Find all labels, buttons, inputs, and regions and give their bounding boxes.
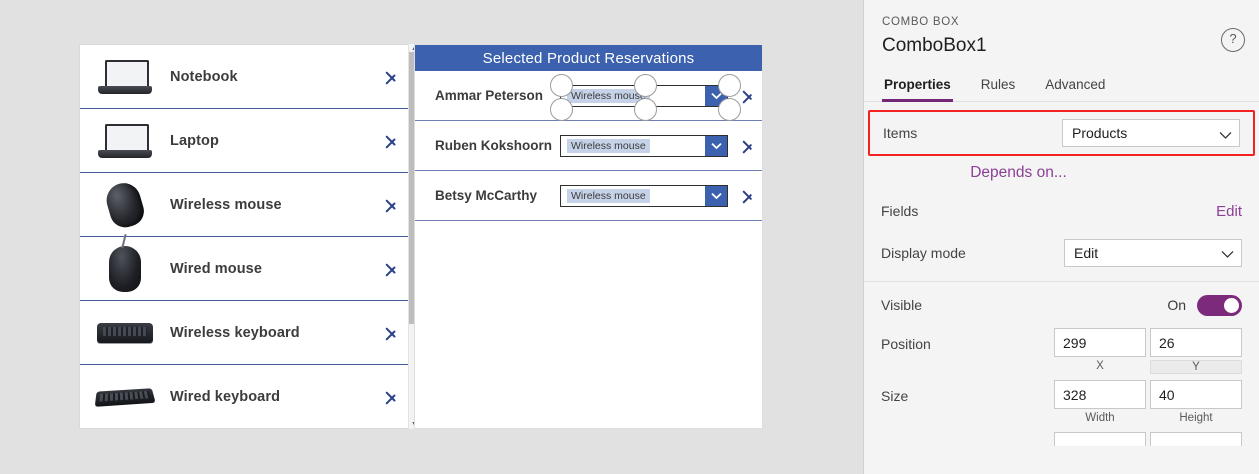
visible-state-label: On [1167, 297, 1186, 313]
depends-on-link[interactable]: Depends on... [970, 164, 1067, 182]
chevron-right-icon[interactable] [379, 384, 405, 410]
wireless-keyboard-photo [94, 310, 156, 356]
tab-advanced[interactable]: Advanced [1043, 73, 1107, 101]
chevron-down-icon [1221, 246, 1234, 259]
wired-mouse-photo [94, 246, 156, 292]
next-field-left-cell [1054, 432, 1146, 446]
product-label: Notebook [156, 69, 379, 85]
position-property-row: Position X Y [864, 328, 1259, 380]
product-label: Wired mouse [156, 261, 379, 277]
chevron-right-icon[interactable] [737, 134, 761, 158]
reservations-header: Selected Product Reservations [415, 45, 762, 71]
size-width-caption: Width [1054, 412, 1146, 424]
fields-edit-link[interactable]: Edit [1216, 203, 1242, 220]
combobox-chip: Wireless mouse [567, 89, 650, 103]
notebook-photo [94, 54, 156, 100]
chevron-down-icon[interactable] [705, 136, 727, 156]
depends-on-row: Depends on... [864, 156, 1259, 190]
position-y-input[interactable] [1150, 328, 1242, 357]
panel-tabs: Properties Rules Advanced [864, 73, 1259, 102]
items-dropdown[interactable]: Products [1062, 119, 1240, 147]
product-label: Wireless keyboard [156, 325, 379, 341]
display-mode-row: Display mode Edit [864, 232, 1259, 273]
size-width-input[interactable] [1054, 380, 1146, 409]
properties-panel: COMBO BOX ComboBox1 ? Properties Rules A… [863, 0, 1259, 474]
display-mode-label: Display mode [881, 245, 1064, 261]
gallery-item[interactable]: Wired mouse [80, 237, 417, 301]
wireless-mouse-photo [94, 182, 156, 228]
size-height-input[interactable] [1150, 380, 1242, 409]
chevron-down-icon[interactable] [705, 86, 727, 106]
control-type-label: COMBO BOX [882, 16, 1241, 28]
combobox-chip: Wireless mouse [567, 189, 650, 203]
person-name: Betsy McCarthy [435, 188, 560, 203]
position-x-caption: X [1054, 360, 1146, 372]
position-y-caption: Y [1150, 360, 1242, 374]
chevron-right-icon[interactable] [379, 64, 405, 90]
size-width-cell: Width [1054, 380, 1146, 424]
combobox[interactable]: Wireless mouse [560, 185, 728, 207]
person-name: Ruben Kokshoorn [435, 138, 560, 153]
reservation-row[interactable]: Betsy McCarthy Wireless mouse [415, 171, 762, 221]
chevron-right-icon[interactable] [379, 320, 405, 346]
tab-rules[interactable]: Rules [979, 73, 1018, 101]
combobox-selected[interactable]: Wireless mouse [560, 85, 728, 107]
size-height-cell: Height [1150, 380, 1242, 424]
app-canvas: Notebook Laptop Wireless mouse Wired mou… [0, 0, 863, 474]
next-property-row-partial [864, 432, 1259, 446]
gallery-item[interactable]: Wireless keyboard [80, 301, 417, 365]
items-property-row[interactable]: Items Products [868, 110, 1255, 156]
product-label: Wired keyboard [156, 389, 379, 405]
toggle-knob [1224, 298, 1239, 313]
next-field-left[interactable] [1054, 432, 1146, 446]
position-x-cell: X [1054, 328, 1146, 372]
gallery-item[interactable]: Wired keyboard [80, 365, 417, 429]
gallery-item[interactable]: Wireless mouse [80, 173, 417, 237]
size-property-row: Size Width Height [864, 380, 1259, 432]
products-gallery[interactable]: Notebook Laptop Wireless mouse Wired mou… [79, 44, 418, 429]
items-label: Items [883, 125, 1062, 141]
chevron-right-icon[interactable] [379, 256, 405, 282]
position-label: Position [881, 328, 1050, 352]
position-y-cell: Y [1150, 328, 1242, 374]
position-x-input[interactable] [1054, 328, 1146, 357]
gallery-item[interactable]: Notebook [80, 45, 417, 109]
help-icon[interactable]: ? [1221, 28, 1245, 52]
size-height-caption: Height [1150, 412, 1242, 424]
visible-toggle[interactable] [1197, 295, 1242, 316]
combobox[interactable]: Wireless mouse [560, 135, 728, 157]
items-value: Products [1072, 125, 1127, 141]
chevron-right-icon[interactable] [737, 184, 761, 208]
fields-property-row: Fields Edit [864, 190, 1259, 232]
display-mode-value: Edit [1074, 245, 1098, 261]
product-label: Laptop [156, 133, 379, 149]
fields-label: Fields [881, 203, 1216, 219]
next-field-right-cell [1150, 432, 1242, 446]
product-label: Wireless mouse [156, 197, 379, 213]
next-field-right[interactable] [1150, 432, 1242, 446]
chevron-down-icon [1219, 127, 1232, 140]
chevron-right-icon[interactable] [737, 84, 761, 108]
control-name: ComboBox1 [882, 35, 1241, 57]
visible-label: Visible [881, 297, 1167, 313]
chevron-right-icon[interactable] [379, 128, 405, 154]
reservations-gallery[interactable]: Selected Product Reservations Ammar Pete… [414, 44, 763, 429]
chevron-down-icon[interactable] [705, 186, 727, 206]
laptop-photo [94, 118, 156, 164]
gallery-item[interactable]: Laptop [80, 109, 417, 173]
person-name: Ammar Peterson [435, 88, 560, 103]
reservation-row[interactable]: Ammar Peterson Wireless mouse [415, 71, 762, 121]
visible-property-row: Visible On [864, 282, 1259, 328]
size-label: Size [881, 380, 1050, 404]
tab-properties[interactable]: Properties [882, 73, 953, 101]
reservation-row[interactable]: Ruben Kokshoorn Wireless mouse [415, 121, 762, 171]
wired-keyboard-photo [94, 374, 156, 420]
chevron-right-icon[interactable] [379, 192, 405, 218]
display-mode-dropdown[interactable]: Edit [1064, 239, 1242, 267]
panel-header: COMBO BOX ComboBox1 ? [864, 0, 1259, 57]
combobox-chip: Wireless mouse [567, 139, 650, 153]
